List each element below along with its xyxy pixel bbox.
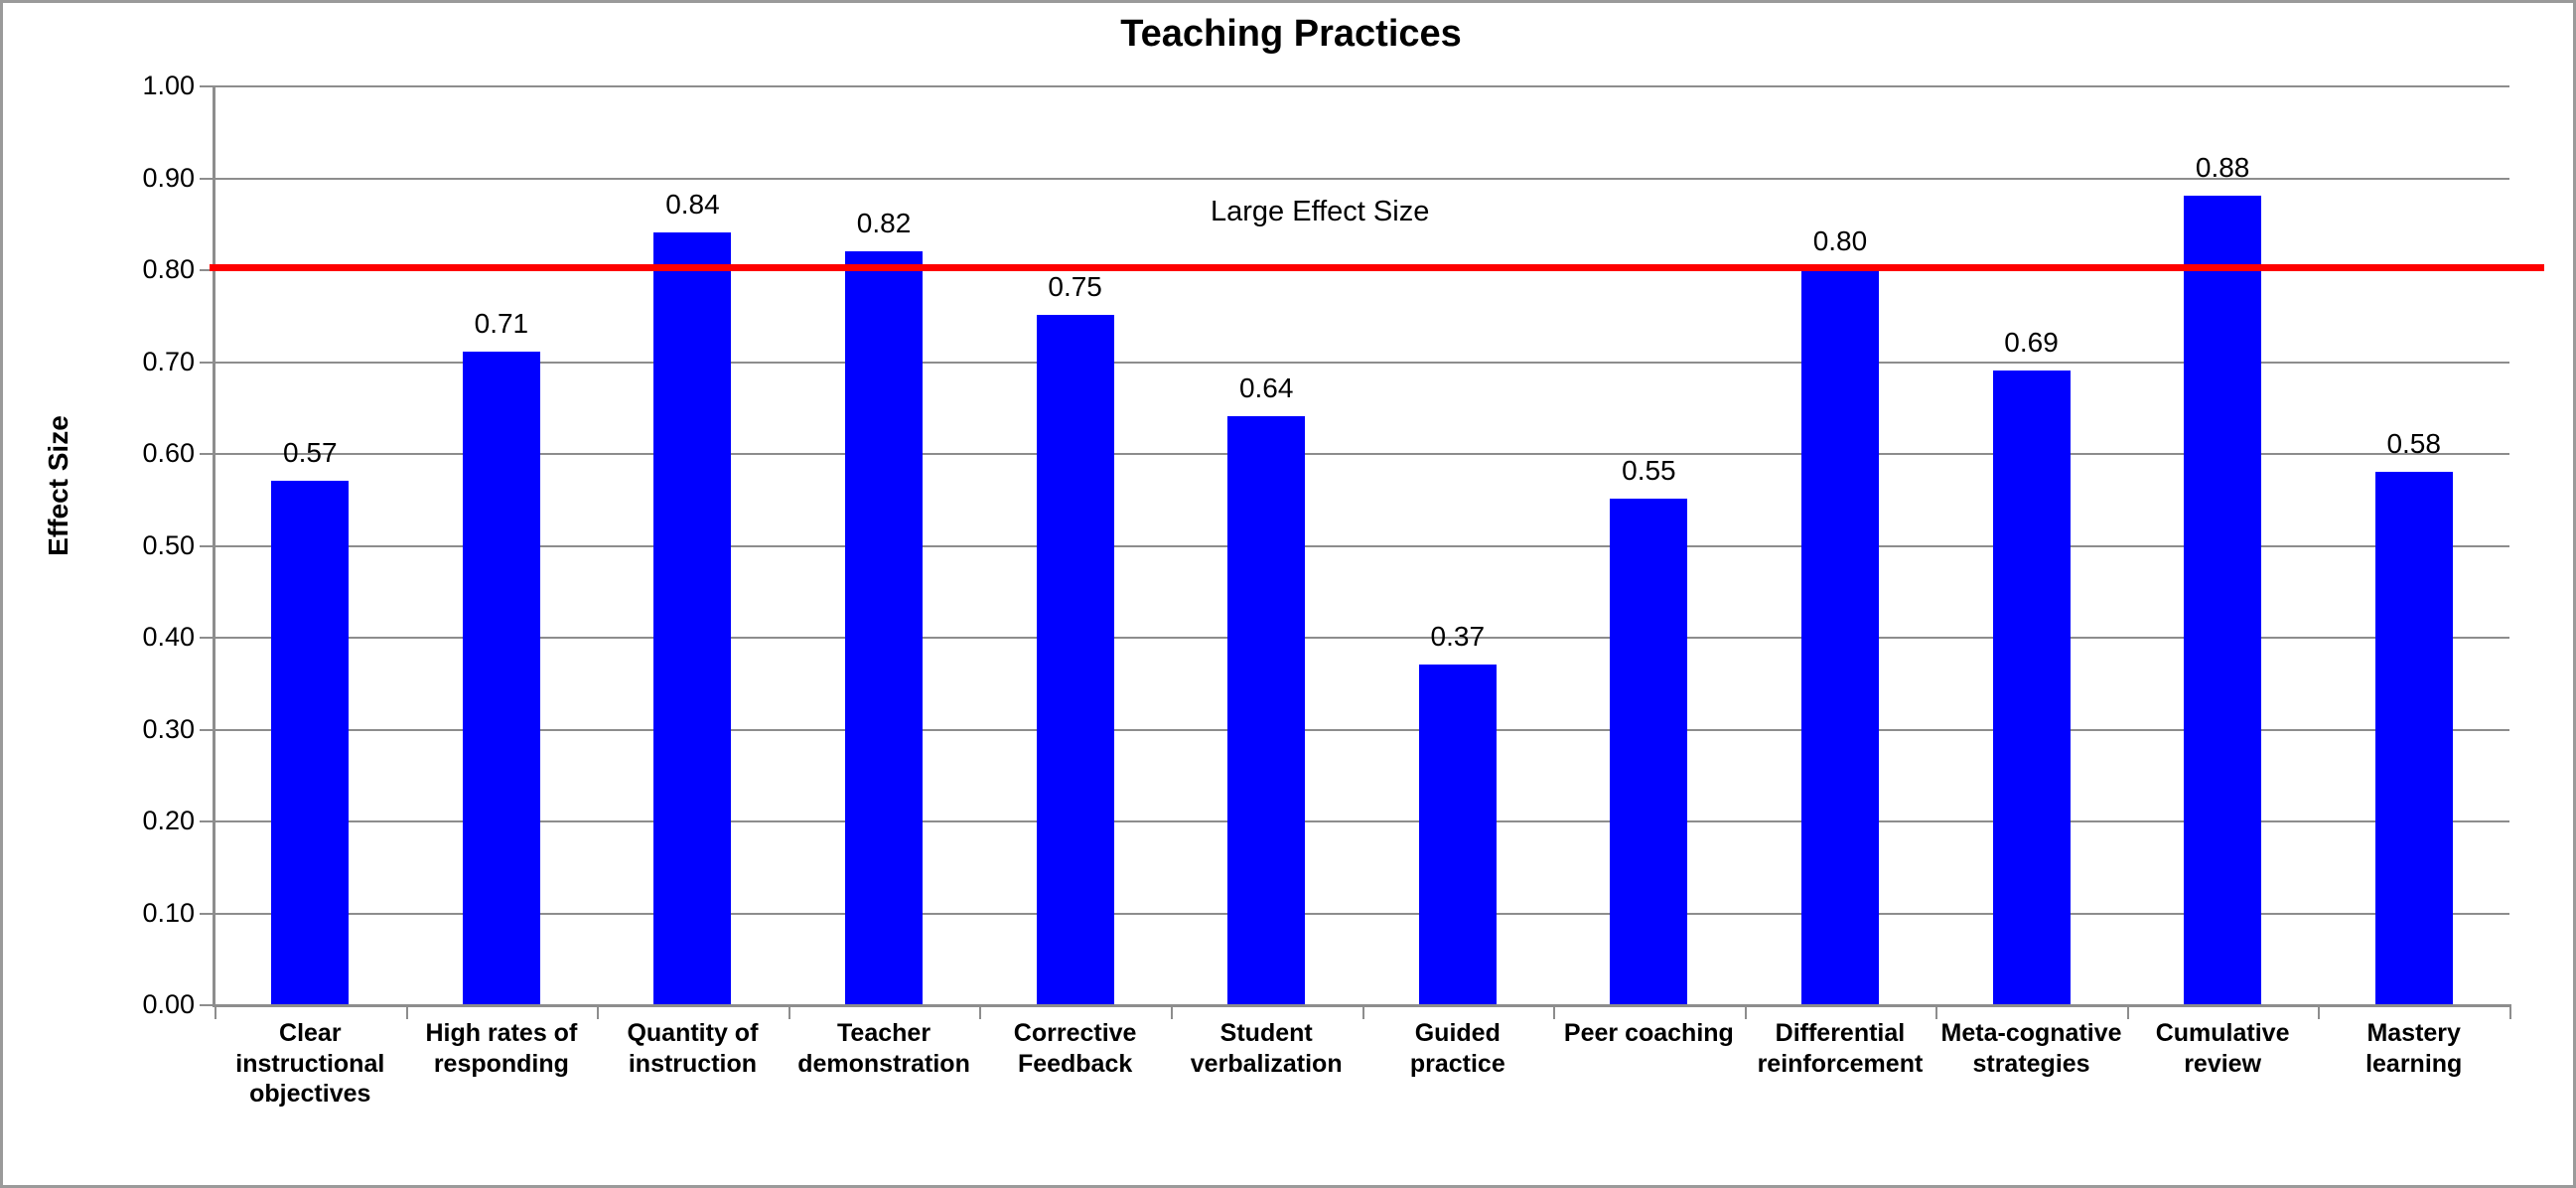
- x-axis-category-label: Guidedpractice: [1362, 1018, 1554, 1079]
- x-axis-tick-mark: [1362, 1004, 1364, 1019]
- x-axis-category-label-line: responding: [406, 1049, 598, 1080]
- y-axis-tick-label: 0.50: [75, 532, 195, 559]
- y-axis-tick-label: 0.70: [75, 349, 195, 375]
- x-axis-category-label-line: practice: [1362, 1049, 1554, 1080]
- threshold-label: Large Effect Size: [1211, 196, 1429, 228]
- x-axis-category-label-line: Quantity of: [597, 1018, 788, 1049]
- bar-value-label: 0.82: [814, 210, 953, 237]
- x-axis-category-label: Studentverbalization: [1171, 1018, 1362, 1079]
- gridline: [215, 913, 2509, 915]
- y-axis-tick-label: 0.00: [75, 991, 195, 1018]
- y-axis-tick-label: 0.90: [75, 165, 195, 192]
- gridline: [215, 820, 2509, 822]
- y-axis-tick-mark: [200, 545, 214, 547]
- bar[interactable]: [1610, 499, 1687, 1004]
- bar-value-label: 0.64: [1197, 374, 1336, 402]
- y-axis-tick-mark: [200, 1004, 214, 1006]
- y-axis-tick-mark: [200, 85, 214, 87]
- bar-value-label: 0.58: [2345, 430, 2484, 458]
- x-axis-category-label-line: Peer coaching: [1553, 1018, 1745, 1049]
- bar-chart-container: Teaching Practices Effect Size 1.000.900…: [0, 0, 2576, 1188]
- x-axis-category-label-line: Differential: [1745, 1018, 1936, 1049]
- gridline: [215, 545, 2509, 547]
- x-axis-category-label-line: Cumulative: [2127, 1018, 2319, 1049]
- y-axis-tick-label: 0.20: [75, 808, 195, 834]
- y-axis-tick-mark: [200, 362, 214, 364]
- x-axis-category-label-line: Clear: [215, 1018, 406, 1049]
- y-axis-tick-label: 0.30: [75, 716, 195, 743]
- x-axis-category-label-line: Student: [1171, 1018, 1362, 1049]
- x-axis-category-label: Differentialreinforcement: [1745, 1018, 1936, 1079]
- bar[interactable]: [2375, 472, 2453, 1005]
- x-axis-category-label-line: demonstration: [788, 1049, 980, 1080]
- x-axis-category-label: Masterylearning: [2318, 1018, 2509, 1079]
- bar[interactable]: [271, 481, 349, 1004]
- x-axis-category-label-line: instructional: [215, 1049, 406, 1080]
- x-axis-tick-mark: [1171, 1004, 1173, 1019]
- x-axis-category-label: Peer coaching: [1553, 1018, 1745, 1049]
- y-axis-title: Effect Size: [43, 386, 74, 585]
- x-axis-tick-mark: [406, 1004, 408, 1019]
- x-axis-category-label-line: Teacher: [788, 1018, 980, 1049]
- x-axis-tick-mark: [1553, 1004, 1555, 1019]
- bar[interactable]: [1801, 269, 1879, 1004]
- y-axis-tick-label: 0.60: [75, 440, 195, 467]
- x-axis-category-label-line: instruction: [597, 1049, 788, 1080]
- y-axis-tick-mark: [200, 729, 214, 731]
- bar[interactable]: [2184, 196, 2261, 1004]
- bar[interactable]: [1419, 665, 1497, 1004]
- bar-value-label: 0.71: [432, 310, 571, 338]
- x-axis-category-label-line: verbalization: [1171, 1049, 1362, 1080]
- gridline: [215, 637, 2509, 639]
- x-axis-tick-mark: [2127, 1004, 2129, 1019]
- bar-value-label: 0.84: [623, 191, 762, 219]
- x-axis-category-label: Clearinstructionalobjectives: [215, 1018, 406, 1110]
- x-axis-category-label-line: learning: [2318, 1049, 2509, 1080]
- x-axis-category-label: Teacherdemonstration: [788, 1018, 980, 1079]
- gridline: [215, 453, 2509, 455]
- x-axis-category-label-line: objectives: [215, 1079, 406, 1110]
- x-axis-category-label-line: Feedback: [979, 1049, 1171, 1080]
- bar-value-label: 0.75: [1006, 273, 1145, 301]
- x-axis-tick-mark: [2509, 1004, 2511, 1019]
- threshold-line: [210, 264, 2544, 271]
- y-axis-tick-mark: [200, 178, 214, 180]
- x-axis-category-label: Cumulativereview: [2127, 1018, 2319, 1079]
- bar-value-label: 0.80: [1771, 227, 1910, 255]
- x-axis-tick-mark: [597, 1004, 599, 1019]
- x-axis-category-label-line: review: [2127, 1049, 2319, 1080]
- x-axis-category-label-line: Mastery: [2318, 1018, 2509, 1049]
- bar-value-label: 0.55: [1579, 457, 1718, 485]
- y-axis-tick-mark: [200, 820, 214, 822]
- x-axis-category-label-line: High rates of: [406, 1018, 598, 1049]
- y-axis-tick-label: 0.40: [75, 624, 195, 651]
- page-title: Teaching Practices: [3, 13, 2576, 56]
- x-axis-tick-mark: [788, 1004, 790, 1019]
- y-axis-tick-label: 1.00: [75, 73, 195, 99]
- bar-value-label: 0.88: [2153, 154, 2292, 182]
- y-axis-tick-label: 0.80: [75, 256, 195, 283]
- x-axis-tick-mark: [1935, 1004, 1937, 1019]
- y-axis-tick-label: 0.10: [75, 900, 195, 927]
- x-axis-category-label: Meta-cognativestrategies: [1935, 1018, 2127, 1079]
- y-axis-tick-mark: [200, 637, 214, 639]
- y-axis-tick-mark: [200, 913, 214, 915]
- bar[interactable]: [463, 352, 540, 1004]
- bar[interactable]: [653, 232, 731, 1004]
- bar-value-label: 0.69: [1962, 329, 2101, 357]
- x-axis-category-label: Quantity ofinstruction: [597, 1018, 788, 1079]
- x-axis-tick-mark: [979, 1004, 981, 1019]
- x-axis-category-label-line: reinforcement: [1745, 1049, 1936, 1080]
- gridline: [215, 362, 2509, 364]
- x-axis-category-label: High rates ofresponding: [406, 1018, 598, 1079]
- bar[interactable]: [1993, 371, 2071, 1004]
- x-axis-tick-mark: [2318, 1004, 2320, 1019]
- x-axis-tick-mark: [215, 1004, 216, 1019]
- bar-value-label: 0.57: [240, 439, 379, 467]
- bar[interactable]: [1227, 416, 1305, 1004]
- x-axis-category-label-line: Guided: [1362, 1018, 1554, 1049]
- x-axis-tick-mark: [1745, 1004, 1747, 1019]
- bar[interactable]: [1037, 315, 1114, 1004]
- gridline: [215, 85, 2509, 87]
- x-axis-category-label-line: Meta-cognative: [1935, 1018, 2127, 1049]
- bar-value-label: 0.37: [1388, 623, 1527, 651]
- y-axis-tick-mark: [200, 453, 214, 455]
- x-axis-category-label-line: strategies: [1935, 1049, 2127, 1080]
- gridline: [215, 729, 2509, 731]
- x-axis-category-label-line: Corrective: [979, 1018, 1171, 1049]
- x-axis-category-label: CorrectiveFeedback: [979, 1018, 1171, 1079]
- bar[interactable]: [845, 251, 923, 1005]
